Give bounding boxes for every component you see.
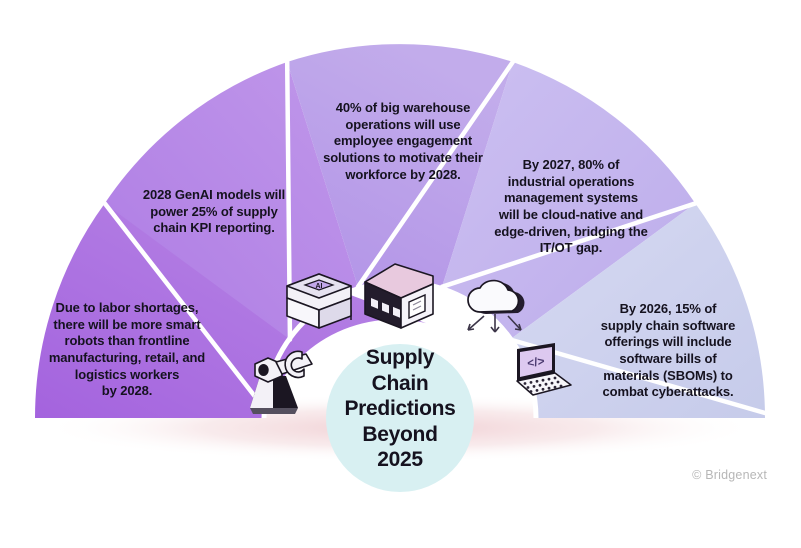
svg-text:AI: AI xyxy=(316,283,323,290)
supply-chain-predictions-infographic: AI </> xyxy=(0,0,801,548)
svg-text:</>: </> xyxy=(526,354,545,371)
ai-chip-icon: AI xyxy=(287,274,351,328)
center-hub[interactable] xyxy=(326,344,474,492)
copyright-credit: © Bridgenext xyxy=(692,468,767,482)
